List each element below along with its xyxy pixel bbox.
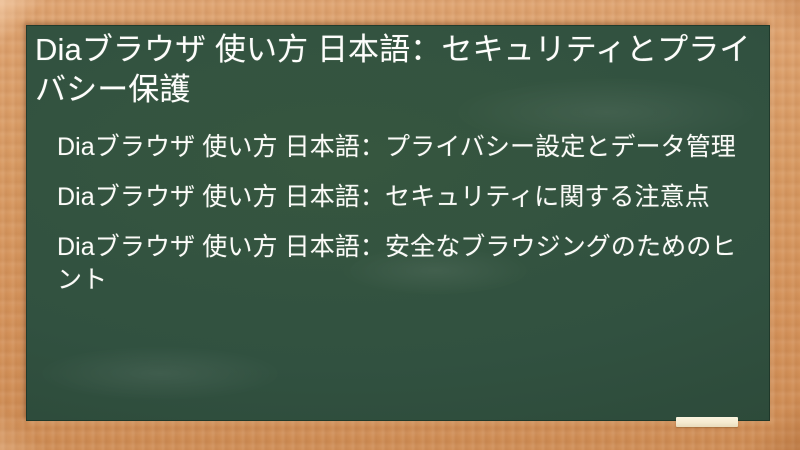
chalk-stick-icon bbox=[676, 417, 738, 427]
list-item: Diaブラウザ 使い方 日本語：プライバシー設定とデータ管理 bbox=[57, 131, 752, 164]
list-item: Diaブラウザ 使い方 日本語：セキュリティに関する注意点 bbox=[57, 181, 752, 214]
heading-list: Diaブラウザ 使い方 日本語：プライバシー設定とデータ管理 Diaブラウザ 使… bbox=[35, 131, 756, 297]
blackboard-figure: Diaブラウザ 使い方 日本語：セキュリティとプライバシー保護 Diaブラウザ … bbox=[0, 0, 800, 450]
list-item: Diaブラウザ 使い方 日本語：安全なブラウジングのためのヒント bbox=[57, 231, 752, 297]
board-content: Diaブラウザ 使い方 日本語：セキュリティとプライバシー保護 Diaブラウザ … bbox=[26, 25, 770, 421]
chalkboard-surface: Diaブラウザ 使い方 日本語：セキュリティとプライバシー保護 Diaブラウザ … bbox=[26, 25, 770, 421]
page-title: Diaブラウザ 使い方 日本語：セキュリティとプライバシー保護 bbox=[35, 30, 756, 111]
